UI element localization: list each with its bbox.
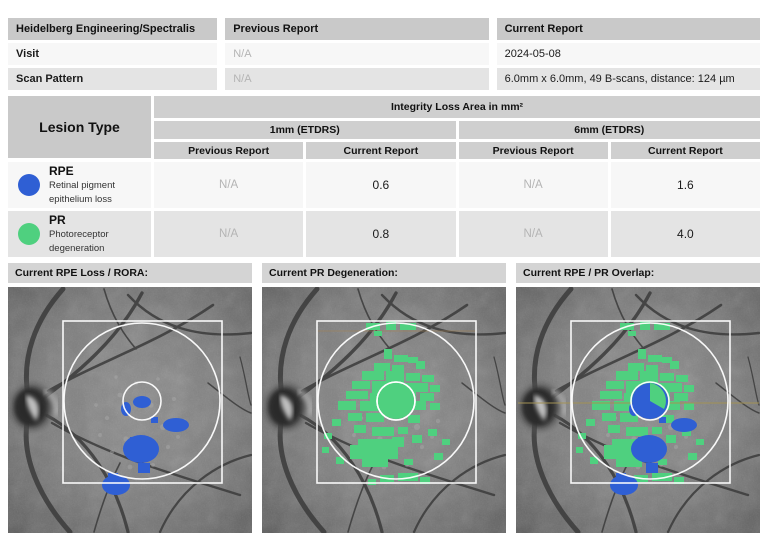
lesion-table-header: Lesion Type Integrity Loss Area in mm² 1… <box>8 96 760 159</box>
panel-title-pr-degeneration: Current PR Degeneration: <box>262 263 506 283</box>
visit-previous-value: N/A <box>225 43 488 65</box>
current-report-header: Current Report <box>497 18 760 40</box>
column-header-6mm-current: Current Report <box>611 142 760 159</box>
panel-title-rpe-loss: Current RPE Loss / RORA: <box>8 263 252 283</box>
fundus-panels: Current RPE Loss / RORA: <box>8 263 760 533</box>
scan-pattern-label: Scan Pattern <box>8 68 217 90</box>
visit-current-value: 2024-05-08 <box>497 43 760 65</box>
rpe-1mm-current: 0.6 <box>306 162 455 208</box>
lesion-description-line1: Retinal pigment <box>49 180 115 191</box>
column-header-1mm-previous: Previous Report <box>154 142 303 159</box>
lesion-legend-rpe: RPE Retinal pigment epithelium loss <box>8 162 151 208</box>
pr-1mm-previous: N/A <box>154 211 303 257</box>
previous-report-header: Previous Report <box>225 18 488 40</box>
panel-pr-degeneration: Current PR Degeneration: <box>262 263 506 533</box>
rpe-6mm-previous: N/A <box>459 162 608 208</box>
group-header-1mm: 1mm (ETDRS) <box>154 121 456 139</box>
info-header-row: Heidelberg Engineering/Spectralis Previo… <box>8 18 760 40</box>
pr-1mm-current: 0.8 <box>306 211 455 257</box>
panel-title-rpe-pr-overlap: Current RPE / PR Overlap: <box>516 263 760 283</box>
fundus-image-rpe-pr-overlap[interactable] <box>516 287 760 533</box>
rpe-6mm-current: 1.6 <box>611 162 760 208</box>
fundus-image-rpe-loss[interactable] <box>8 287 252 533</box>
scan-pattern-current-value: 6.0mm x 6.0mm, 49 B-scans, distance: 124… <box>497 68 760 90</box>
column-header-1mm-current: Current Report <box>306 142 455 159</box>
lesion-description-line2: epithelium loss <box>49 194 112 205</box>
lesion-summary-table: Lesion Type Integrity Loss Area in mm² 1… <box>8 96 760 257</box>
visit-label: Visit <box>8 43 217 65</box>
rpe-color-dot-icon <box>18 174 40 196</box>
panel-rpe-loss: Current RPE Loss / RORA: <box>8 263 252 533</box>
table-row: RPE Retinal pigment epithelium loss N/A … <box>8 162 760 208</box>
device-info-table: Heidelberg Engineering/Spectralis Previo… <box>8 18 760 93</box>
lesion-abbr: RPE <box>49 164 74 178</box>
metric-header: Integrity Loss Area in mm² <box>154 96 760 118</box>
group-header-6mm: 6mm (ETDRS) <box>459 121 761 139</box>
scan-pattern-previous-value: N/A <box>225 68 488 90</box>
rpe-1mm-previous: N/A <box>154 162 303 208</box>
lesion-description-line1: Photoreceptor <box>49 229 109 240</box>
lesion-description-line2: degeneration <box>49 243 104 254</box>
lesion-type-header: Lesion Type <box>8 96 151 158</box>
lesion-legend-pr: PR Photoreceptor degeneration <box>8 211 151 257</box>
pr-6mm-current: 4.0 <box>611 211 760 257</box>
table-row: PR Photoreceptor degeneration N/A 0.8 N/… <box>8 211 760 257</box>
device-label: Heidelberg Engineering/Spectralis <box>8 18 217 40</box>
table-row-scan-pattern: Scan Pattern N/A 6.0mm x 6.0mm, 49 B-sca… <box>8 68 760 90</box>
pr-color-dot-icon <box>18 223 40 245</box>
pr-6mm-previous: N/A <box>459 211 608 257</box>
column-header-6mm-previous: Previous Report <box>459 142 608 159</box>
panel-rpe-pr-overlap: Current RPE / PR Overlap: <box>516 263 760 533</box>
table-row-visit: Visit N/A 2024-05-08 <box>8 43 760 65</box>
lesion-abbr: PR <box>49 213 66 227</box>
fundus-image-pr-degeneration[interactable] <box>262 287 506 533</box>
